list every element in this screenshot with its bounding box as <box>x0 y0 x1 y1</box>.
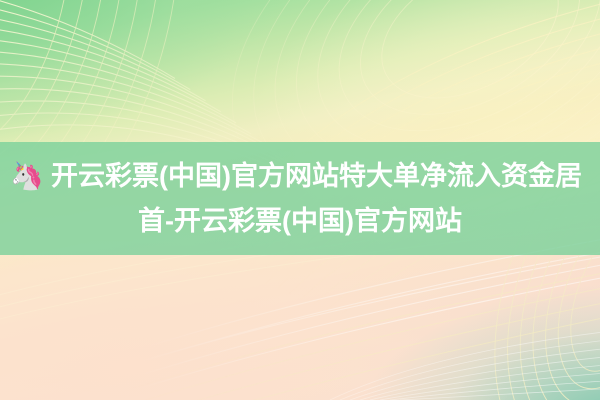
headline-line-1: 🦄 开云彩票(中国)官方网站特大单净流入资金居 <box>10 154 582 198</box>
headline-band: 🦄 开云彩票(中国)官方网站特大单净流入资金居 首-开云彩票(中国)官方网站 <box>0 142 600 255</box>
headline-line-2: 首-开云彩票(中国)官方网站 <box>138 199 462 243</box>
promo-banner: 🦄 开云彩票(中国)官方网站特大单净流入资金居 首-开云彩票(中国)官方网站 <box>0 0 600 400</box>
